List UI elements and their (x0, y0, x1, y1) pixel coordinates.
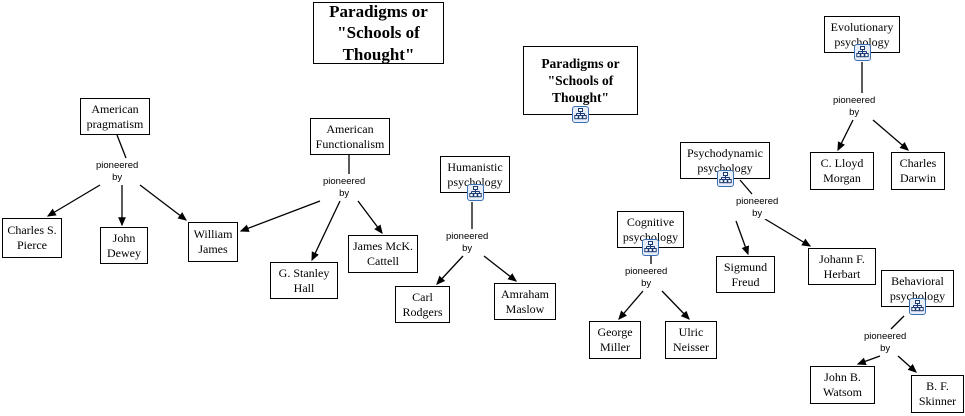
hierarchy-resource-icon[interactable] (909, 298, 926, 315)
hierarchy-resource-icon[interactable] (717, 170, 734, 187)
concept-node-label: William James (194, 227, 233, 256)
connector-layer (0, 0, 965, 416)
concept-node-title_second[interactable]: Paradigms or "Schools of Thought" (523, 46, 638, 115)
connector-lbl_evolutionary-to-charles_darwin[interactable] (873, 120, 908, 150)
connector-lbl_functionalism-to-mck_cattell[interactable] (358, 201, 382, 233)
connector-behavioral_psych-to-lbl_behavioral[interactable] (891, 316, 904, 329)
concept-node-label: John Dewey (107, 231, 141, 260)
concept-node-stanley_hall[interactable]: G. Stanley Hall (270, 262, 338, 299)
link-phrase-lbl_psychodynamic[interactable]: pioneered by (736, 196, 778, 219)
hierarchy-resource-icon[interactable] (854, 44, 871, 61)
connector-psychodynamic_psych-to-lbl_psychodynamic[interactable] (740, 180, 752, 194)
concept-node-label: B. F. Skinner (919, 379, 956, 408)
link-phrase-lbl_behavioral[interactable]: pioneered by (864, 331, 906, 354)
link-phrase-lbl_evolutionary[interactable]: pioneered by (833, 95, 875, 118)
connector-lbl_psychodynamic-to-sigmund_freud[interactable] (736, 221, 748, 254)
connector-lbl_cognitive-to-ulric_neisser[interactable] (662, 291, 689, 319)
connector-lines (48, 62, 916, 372)
concept-node-john_dewey[interactable]: John Dewey (100, 227, 148, 264)
connector-lbl_psychodynamic-to-johann_herbart[interactable] (765, 219, 810, 246)
connector-lbl_humanistic-to-amraham_maslow[interactable] (484, 256, 516, 281)
concept-node-label: Carl Rodgers (403, 290, 443, 319)
concept-node-johann_herbart[interactable]: Johann F. Herbart (808, 248, 876, 285)
concept-node-ulric_neisser[interactable]: Ulric Neisser (665, 321, 717, 359)
connector-lbl_pragmatism-to-charles_pierce[interactable] (48, 185, 100, 216)
concept-node-label: C. Lloyd Morgan (821, 156, 864, 185)
connector-lbl_humanistic-to-carl_rodgers[interactable] (437, 256, 463, 284)
connector-lbl_functionalism-to-william_james[interactable] (241, 201, 320, 231)
concept-node-label: Charles S. Pierce (7, 223, 56, 252)
connector-lbl_pragmatism-to-william_james[interactable] (140, 185, 186, 220)
concept-map-canvas: Paradigms or "Schools of Thought"Paradig… (0, 0, 965, 416)
concept-node-sigmund_freud[interactable]: Sigmund Freud (716, 256, 775, 293)
concept-node-charles_darwin[interactable]: Charles Darwin (891, 152, 945, 190)
concept-node-label: Charles Darwin (900, 156, 937, 185)
link-phrase-lbl_humanistic[interactable]: pioneered by (446, 231, 488, 254)
concept-node-bf_skinner[interactable]: B. F. Skinner (911, 375, 964, 413)
concept-node-label: Ulric Neisser (673, 325, 709, 354)
concept-node-label: George Miller (597, 325, 632, 354)
concept-node-john_watsom[interactable]: John B. Watsom (810, 366, 875, 404)
hierarchy-resource-icon[interactable] (467, 184, 484, 201)
concept-node-label: American Functionalism (316, 122, 385, 151)
concept-node-american_pragmatism[interactable]: American pragmatism (80, 98, 150, 135)
concept-node-george_miller[interactable]: George Miller (589, 321, 641, 359)
concept-node-label: Paradigms or "Schools of Thought" (541, 55, 619, 106)
concept-node-title_main[interactable]: Paradigms or "Schools of Thought" (313, 2, 444, 64)
concept-node-label: John B. Watsom (823, 370, 862, 399)
concept-node-label: Johann F. Herbart (819, 252, 865, 281)
concept-node-label: American pragmatism (87, 102, 144, 131)
concept-node-charles_pierce[interactable]: Charles S. Pierce (2, 218, 62, 258)
concept-node-lloyd_morgan[interactable]: C. Lloyd Morgan (810, 152, 874, 190)
concept-node-label: Amraham Maslow (501, 287, 549, 316)
connector-lbl_evolutionary-to-lloyd_morgan[interactable] (838, 120, 853, 150)
concept-node-american_functionalism[interactable]: American Functionalism (310, 118, 390, 155)
connector-lbl_behavioral-to-john_watsom[interactable] (858, 356, 880, 364)
link-phrase-lbl_cognitive[interactable]: pioneered by (625, 266, 667, 289)
concept-node-label: Paradigms or "Schools of Thought" (329, 1, 428, 64)
link-phrase-lbl_functionalism[interactable]: pioneered by (323, 176, 365, 199)
connector-american_pragmatism-to-lbl_pragmatism[interactable] (117, 135, 126, 158)
concept-node-carl_rodgers[interactable]: Carl Rodgers (395, 286, 450, 323)
concept-node-label: James McK. Cattell (353, 239, 413, 268)
concept-node-william_james[interactable]: William James (188, 222, 238, 262)
hierarchy-resource-icon[interactable] (642, 239, 659, 256)
concept-node-label: G. Stanley Hall (279, 266, 330, 295)
connector-lbl_functionalism-to-stanley_hall[interactable] (312, 201, 340, 260)
connector-lbl_behavioral-to-bf_skinner[interactable] (898, 356, 916, 372)
concept-node-amraham_maslow[interactable]: Amraham Maslow (494, 283, 556, 320)
link-phrase-lbl_pragmatism[interactable]: pioneered by (96, 160, 138, 183)
connector-lbl_cognitive-to-george_miller[interactable] (619, 291, 643, 319)
concept-node-mck_cattell[interactable]: James McK. Cattell (348, 235, 418, 273)
hierarchy-resource-icon[interactable] (572, 106, 589, 123)
concept-node-label: Sigmund Freud (724, 260, 767, 289)
